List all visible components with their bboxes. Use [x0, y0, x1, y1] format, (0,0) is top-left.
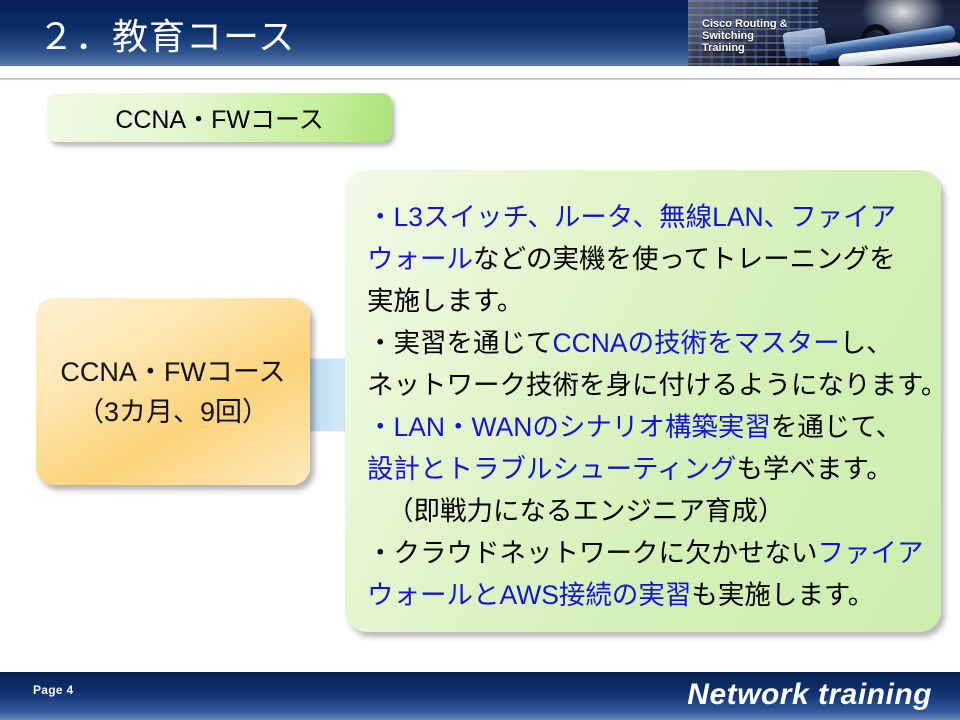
photo-caption-line-2: Training: [702, 42, 832, 54]
course-description-lines: ・L3スイッチ、ルータ、無線LAN、ファイアウォールなどの実機を使ってトレーニン…: [367, 196, 921, 616]
course-summary-line-2: （3カ月、9回）: [77, 392, 269, 432]
header-divider-rule: [0, 78, 960, 80]
course-description-box: ・L3スイッチ、ルータ、無線LAN、ファイアウォールなどの実機を使ってトレーニン…: [345, 170, 941, 632]
course-description-line: ・実習を通じてCCNAの技術をマスターし、: [367, 322, 921, 364]
page-title: ２．教育コース: [38, 8, 295, 60]
photo-caption-line-1: Cisco Routing & Switching: [702, 18, 832, 42]
plain-text-run: ネットワーク技術を身に付けるようになります。: [367, 370, 947, 400]
highlighted-text-run: ファイア: [818, 538, 924, 568]
plain-text-run: し、: [840, 328, 893, 358]
course-description-line: （即戦力になるエンジニア育成）: [367, 490, 921, 532]
course-description-line: ウォールなどの実機を使ってトレーニングを: [367, 238, 921, 280]
course-description-line: ・LAN・WANのシナリオ構築実習を通じて、: [367, 406, 921, 448]
plain-text-run: も学べます。: [736, 454, 892, 484]
plain-text-run: などの実機を使ってトレーニングを: [473, 244, 896, 274]
highlighted-text-run: ・LAN・WANのシナリオ構築実習: [367, 412, 771, 442]
page-number: Page 4: [33, 683, 74, 697]
course-description-line: 設計とトラブルシューティングも学べます。: [367, 448, 921, 490]
course-description-line: 実施します。: [367, 280, 921, 322]
course-section-label: CCNA・FWコース: [47, 93, 392, 142]
plain-text-run: も実施します。: [691, 580, 874, 610]
course-description-line: ネットワーク技術を身に付けるようになります。: [367, 364, 921, 406]
plain-text-run: （即戦力になるエンジニア育成）: [387, 496, 785, 526]
plain-text-run: ・実習を通じて: [367, 328, 553, 358]
slide-header-band: ２．教育コース Cisco Routing & Switching Traini…: [0, 0, 960, 66]
plain-text-run: ・クラウドネットワークに欠かせない: [367, 538, 818, 568]
highlighted-text-run: 設計とトラブルシューティング: [367, 454, 736, 484]
highlighted-text-run: CCNAの技術をマスター: [553, 328, 840, 358]
highlighted-text-run: ウォール: [367, 244, 473, 274]
footer-brand: Network training: [687, 678, 932, 712]
header-photo-caption: Cisco Routing & Switching Training: [702, 18, 832, 54]
course-summary-box: CCNA・FWコース （3カ月、9回）: [36, 298, 310, 485]
highlighted-text-run: ウォールとAWS接続の実習: [367, 580, 691, 610]
course-summary-line-1: CCNA・FWコース: [60, 352, 285, 392]
plain-text-run: 実施します。: [367, 286, 523, 316]
plain-text-run: を通じて、: [771, 412, 902, 442]
course-description-line: ・クラウドネットワークに欠かせないファイア: [367, 532, 921, 574]
highlighted-text-run: ・L3スイッチ、ルータ、無線LAN、ファイア: [367, 202, 896, 232]
slide-footer-band: Page 4 Network training: [0, 672, 960, 720]
course-description-line: ・L3スイッチ、ルータ、無線LAN、ファイア: [367, 196, 921, 238]
course-section-label-text: CCNA・FWコース: [115, 100, 323, 136]
course-description-line: ウォールとAWS接続の実習も実施します。: [367, 574, 921, 616]
header-photo: Cisco Routing & Switching Training: [688, 0, 960, 66]
